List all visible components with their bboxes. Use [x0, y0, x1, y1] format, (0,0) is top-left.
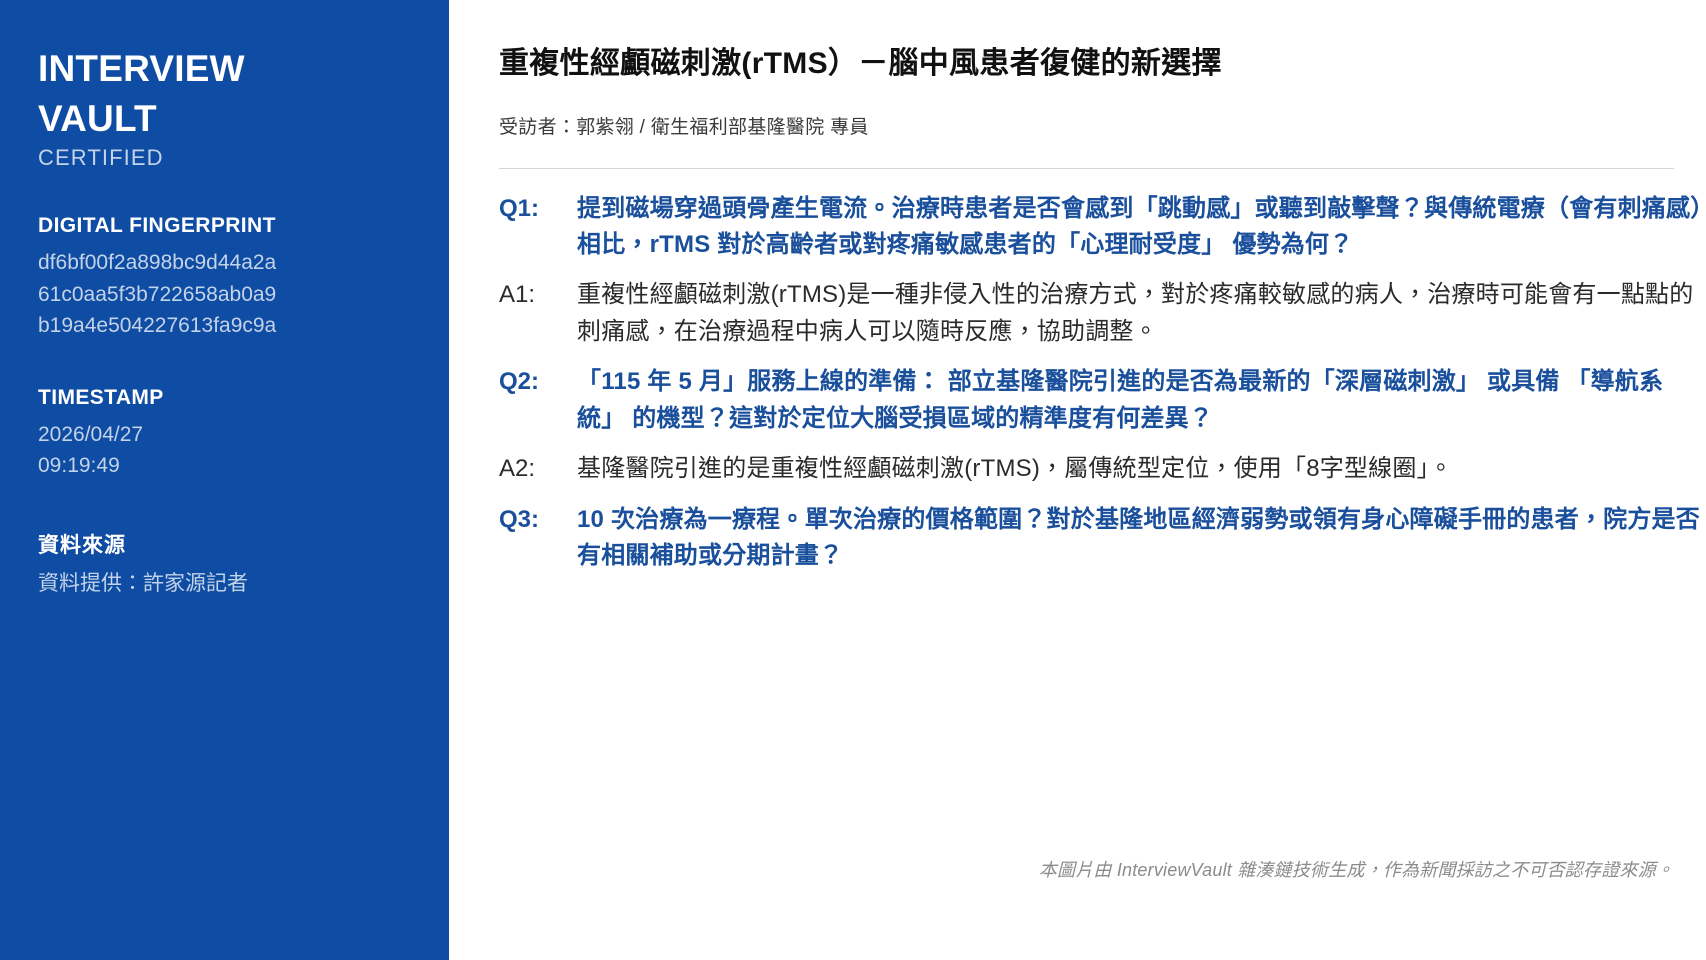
qa-text-a1: 重複性經顱磁刺激(rTMS)是一種非侵入性的治療方式，對於疼痛較敏感的病人，治療… [577, 277, 1706, 350]
main-content: 重複性經顱磁刺激(rTMS）－腦中風患者復健的新選擇 受訪者：郭紫翎 / 衛生福… [449, 0, 1706, 960]
qa-item-q2: Q2: 「115 年 5 月」服務上線的準備： 部立基隆醫院引進的是否為最新的「… [499, 364, 1706, 437]
timestamp-date: 2026/04/27 [38, 419, 411, 451]
qa-label-q1: Q1: [499, 191, 577, 227]
qa-label-a2: A2: [499, 451, 577, 487]
qa-text-a2: 基隆醫院引進的是重複性經顱磁刺激(rTMS)，屬傳統型定位，使用「8字型線圈」。 [577, 451, 1706, 487]
timestamp-time: 09:19:49 [38, 450, 411, 482]
qa-item-a2: A2: 基隆醫院引進的是重複性經顱磁刺激(rTMS)，屬傳統型定位，使用「8字型… [499, 451, 1706, 487]
page-title: 重複性經顱磁刺激(rTMS）－腦中風患者復健的新選擇 [499, 44, 1706, 85]
qa-label-q2: Q2: [499, 364, 577, 400]
digital-fingerprint-section: DIGITAL FINGERPRINT df6bf00f2a898bc9d44a… [38, 214, 411, 342]
title-divider [499, 168, 1674, 169]
qa-list: Q1: 提到磁場穿過頭骨產生電流。治療時患者是否會感到「跳動感」或聽到敲擊聲？與… [499, 191, 1706, 575]
qa-item-a1: A1: 重複性經顱磁刺激(rTMS)是一種非侵入性的治療方式，對於疼痛較敏感的病… [499, 277, 1706, 350]
timestamp-section: TIMESTAMP 2026/04/27 09:19:49 [38, 386, 411, 482]
footer-disclaimer: 本圖片由 InterviewVault 雜湊鏈技術生成，作為新聞採訪之不可否認存… [1039, 856, 1674, 882]
qa-text-q2: 「115 年 5 月」服務上線的準備： 部立基隆醫院引進的是否為最新的「深層磁刺… [577, 364, 1706, 437]
timestamp-title: TIMESTAMP [38, 386, 411, 410]
source-title: 資料來源 [38, 529, 411, 559]
digital-fingerprint-title: DIGITAL FINGERPRINT [38, 214, 411, 238]
digital-fingerprint-value: df6bf00f2a898bc9d44a2a61c0aa5f3b722658ab… [38, 247, 278, 342]
brand-name-line2: VAULT [38, 94, 411, 144]
source-section: 資料來源 資料提供：許家源記者 [38, 529, 411, 600]
qa-text-q1: 提到磁場穿過頭骨產生電流。治療時患者是否會感到「跳動感」或聽到敲擊聲？與傳統電療… [577, 191, 1706, 264]
sidebar: INTERVIEW VAULT CERTIFIED DIGITAL FINGER… [0, 0, 449, 960]
brand-block: INTERVIEW VAULT CERTIFIED [38, 44, 411, 171]
qa-text-q3: 10 次治療為一療程。單次治療的價格範圍？對於基隆地區經濟弱勢或領有身心障礙手冊… [577, 502, 1706, 575]
qa-label-q3: Q3: [499, 502, 577, 538]
brand-certified-label: CERTIFIED [38, 145, 411, 171]
source-value: 資料提供：許家源記者 [38, 568, 411, 600]
brand-name-line1: INTERVIEW [38, 44, 411, 94]
qa-item-q3: Q3: 10 次治療為一療程。單次治療的價格範圍？對於基隆地區經濟弱勢或領有身心… [499, 502, 1706, 575]
certified-interview-page: INTERVIEW VAULT CERTIFIED DIGITAL FINGER… [0, 0, 1706, 960]
qa-label-a1: A1: [499, 277, 577, 313]
qa-item-q1: Q1: 提到磁場穿過頭骨產生電流。治療時患者是否會感到「跳動感」或聽到敲擊聲？與… [499, 191, 1706, 264]
interviewee-line: 受訪者：郭紫翎 / 衛生福利部基隆醫院 專員 [499, 112, 1706, 139]
